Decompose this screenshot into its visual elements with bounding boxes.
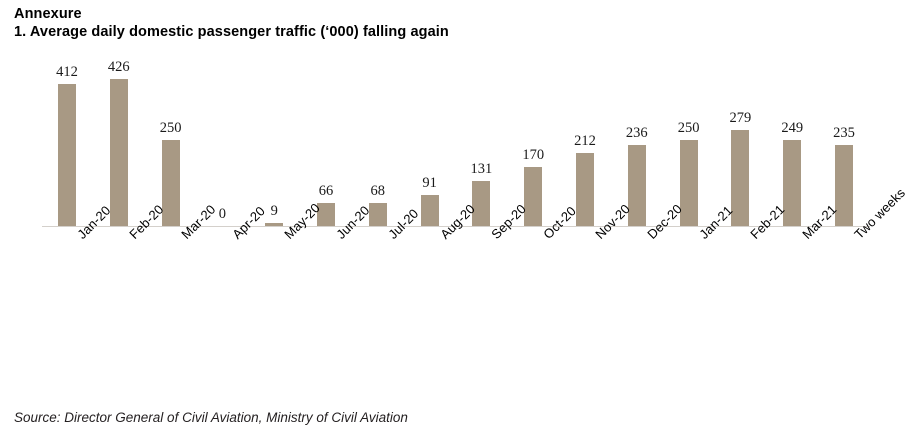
bar-group: 212 [559, 0, 611, 226]
bar[interactable] [421, 195, 439, 226]
bar[interactable] [58, 84, 76, 226]
bar-group: 0 [196, 0, 248, 226]
bar-value-label: 212 [559, 134, 611, 149]
bar-value-label: 249 [766, 121, 818, 136]
bar[interactable] [576, 153, 594, 226]
bar[interactable] [472, 181, 490, 226]
bar-group: 9 [248, 0, 300, 226]
bar-value-label: 412 [41, 65, 93, 80]
bar-group: 279 [714, 0, 766, 226]
bar-group: 131 [455, 0, 507, 226]
bar-value-label: 250 [145, 121, 197, 136]
bar-value-label: 250 [663, 121, 715, 136]
bar-value-label: 426 [93, 60, 145, 75]
bar-group: 170 [507, 0, 559, 226]
bar-group: 250 [145, 0, 197, 226]
bar-group: 66 [300, 0, 352, 226]
bar-value-label: 91 [404, 176, 456, 191]
bar-group: 426 [93, 0, 145, 226]
bar-group: 249 [766, 0, 818, 226]
chart-plot-area: 4124262500966689113117021223625027924923… [0, 0, 905, 439]
bar[interactable] [265, 223, 283, 226]
source-note: Source: Director General of Civil Aviati… [14, 410, 408, 426]
bar-group: 235 [818, 0, 870, 226]
bar-group: 91 [404, 0, 456, 226]
bar-value-label: 279 [714, 111, 766, 126]
bar-value-label: 170 [507, 148, 559, 163]
bar[interactable] [524, 167, 542, 226]
bar-value-label: 68 [352, 184, 404, 199]
bar-value-label: 131 [455, 162, 507, 177]
bar-group: 236 [611, 0, 663, 226]
bar-group: 250 [663, 0, 715, 226]
bar-group: 412 [41, 0, 93, 226]
bar-value-label: 66 [300, 184, 352, 199]
bar[interactable] [110, 79, 128, 226]
bar-value-label: 235 [818, 126, 870, 141]
bar-group: 68 [352, 0, 404, 226]
bar-value-label: 236 [611, 126, 663, 141]
